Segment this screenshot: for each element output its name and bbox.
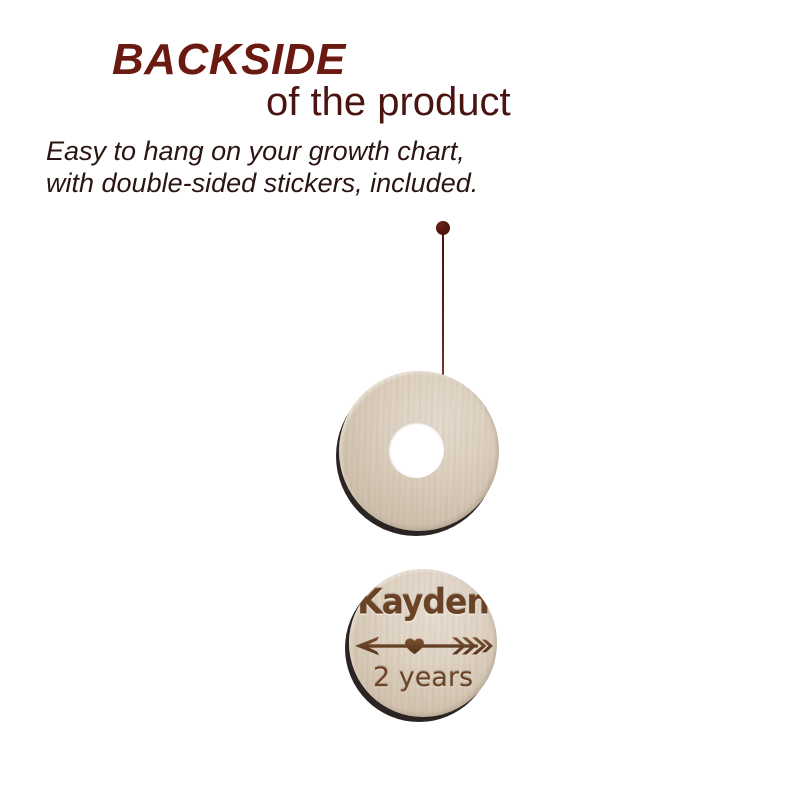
tag-face: Kayden [349, 569, 497, 717]
arrow-with-heart-icon [352, 629, 494, 663]
page-title: BACKSIDE [112, 38, 346, 82]
tagline: Easy to hang on your growth chart, with … [46, 136, 478, 200]
arrow-with-heart-svg [352, 629, 494, 663]
wooden-milestone-tag: Kayden [345, 568, 503, 722]
product-image-canvas: BACKSIDE of the product Easy to hang on … [0, 0, 800, 800]
wooden-washer [336, 370, 504, 538]
tag-engraving-group: Kayden [349, 569, 497, 717]
page-subtitle: of the product [266, 82, 511, 122]
tagline-line-1: Easy to hang on your growth chart, [46, 136, 478, 168]
tagline-line-2: with double-sided stickers, included. [46, 168, 478, 200]
engraved-child-name: Kayden [349, 584, 497, 619]
washer-center-hole [388, 422, 444, 478]
engraved-age-label: 2 years [349, 664, 497, 691]
